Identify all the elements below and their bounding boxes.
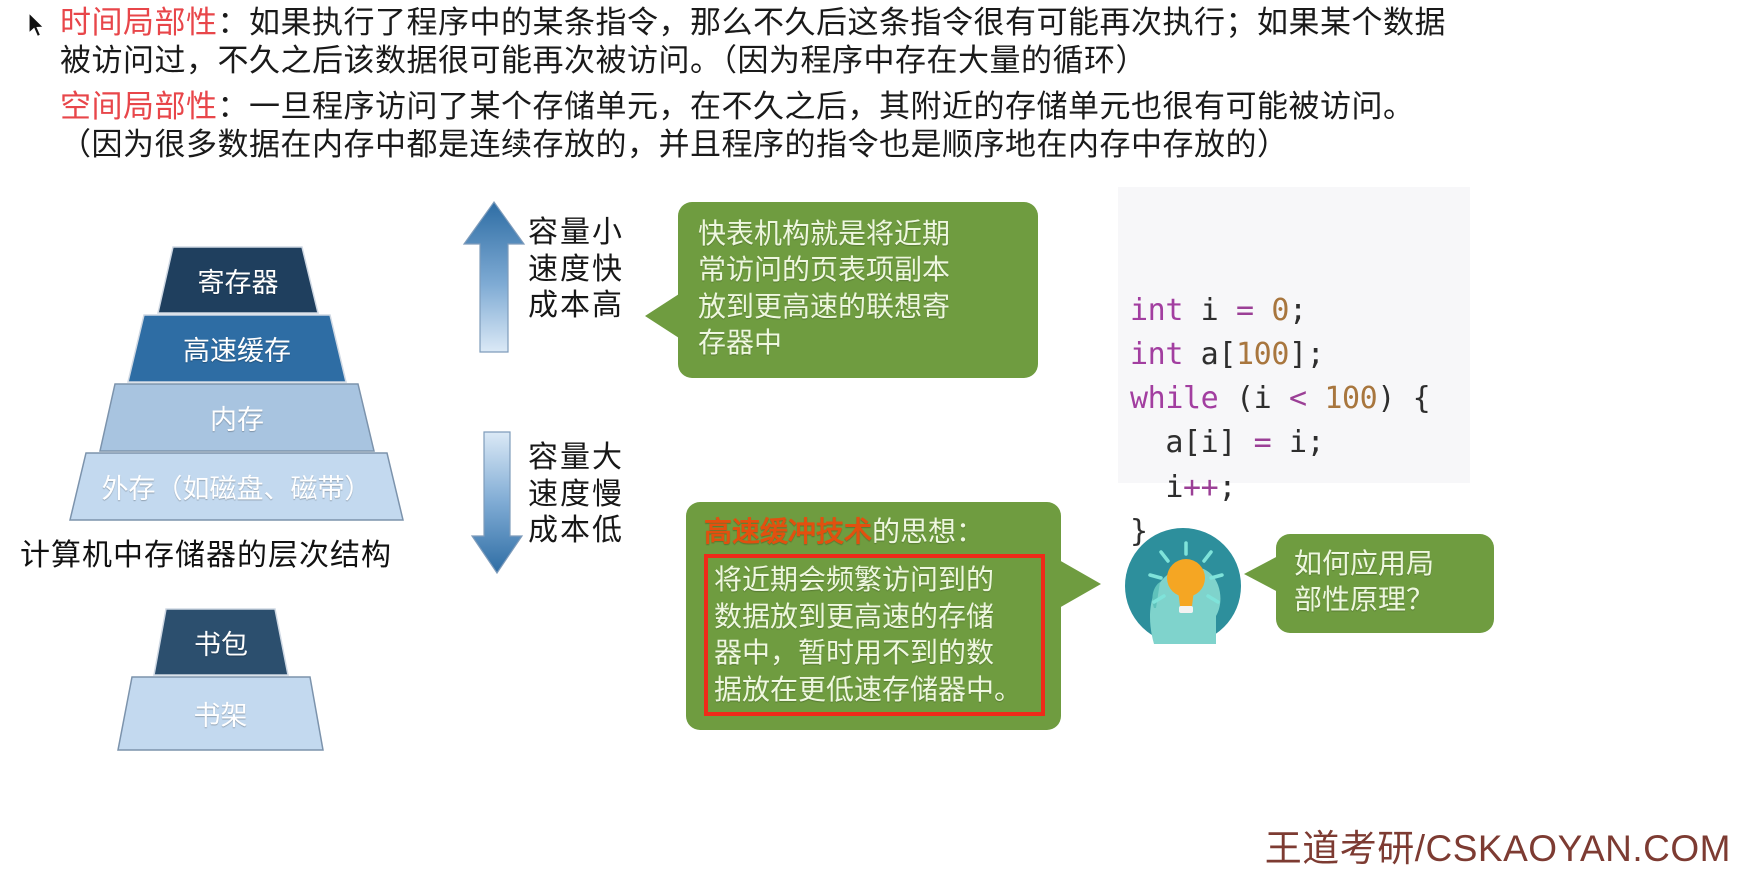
arrow-down-label-2: 速度慢 [528,477,624,514]
schoolbag-pyramid: 书包 书架 [70,607,370,767]
pyramid-level-cache: 高速缓存 [128,315,346,382]
code-line-1: int i = 0; [1130,289,1470,333]
code-token: i; [1271,425,1324,460]
code-token: int [1130,337,1183,372]
temporal-locality-line-1: 时间局部性：如果执行了程序中的某条指令，那么不久后这条指令很有可能再次执行；如果… [60,4,1740,42]
callout-fast-table-tail [645,294,679,338]
code-token: 100 [1236,337,1289,372]
code-token: i [1130,470,1183,505]
pyramid-level-external: 外存（如磁盘、磁带） [70,453,403,520]
schoolbag-level-bag: 书包 [154,609,288,675]
code-token: < [1289,381,1307,416]
code-token: a[ [1183,337,1236,372]
schoolbag-level-bag-label: 书包 [194,623,248,662]
callout-fast-table-line-4: 存器中 [698,325,1020,361]
arrow-up-label-2: 速度快 [528,252,624,289]
code-token: ++ [1183,470,1218,505]
arrow-down-labels: 容量大 速度慢 成本低 [528,440,624,550]
pyramid-level-memory-label: 内存 [210,398,264,437]
temporal-locality-body-1: 如果执行了程序中的某条指令，那么不久后这条指令很有可能再次执行；如果某个数据 [249,5,1446,41]
arrow-up-icon [462,200,526,355]
callout-cache-box-line-3: 器中，暂时用不到的数 [714,635,1039,671]
watermark: 王道考研/CSKAOYAN.COM [1265,818,1731,872]
pyramid-caption: 计算机中存储器的层次结构 [20,530,392,574]
spatial-locality-body-1: 一旦程序访问了某个存储单元，在不久之后，其附近的存储单元也很有可能被访问。 [249,89,1415,125]
code-token: 0 [1271,293,1289,328]
code-line-3: while (i < 100) { [1130,377,1470,421]
locality-explanation-text: 时间局部性：如果执行了程序中的某条指令，那么不久后这条指令很有可能再次执行；如果… [60,4,1740,165]
spatial-locality-keyword: 空间局部性 [60,89,218,125]
temporal-locality-keyword: 时间局部性 [60,5,218,41]
head-with-lightbulb-icon [1116,516,1250,644]
code-token: 100 [1324,381,1377,416]
pyramid-level-register-label: 寄存器 [198,261,279,300]
pyramid-level-external-label: 外存（如磁盘、磁带） [102,467,372,506]
code-token: i [1183,293,1236,328]
pyramid-level-cache-label: 高速缓存 [183,329,291,368]
code-token: while [1130,381,1218,416]
code-token: int [1130,293,1183,328]
callout-cache-box-line-2: 数据放到更高速的存储 [714,599,1039,635]
arrow-up-labels: 容量小 速度快 成本高 [528,215,624,325]
temporal-locality-line-2: 被访问过，不久之后该数据很可能再次被访问。（因为程序中存在大量的循环） [60,42,1740,80]
schoolbag-level-shelf: 书架 [118,677,323,750]
callout-how-to-apply: 如何应用局 部性原理？ [1276,534,1494,633]
code-token: ; [1218,470,1236,505]
code-token: = [1254,425,1272,460]
arrow-up-label-3: 成本高 [528,288,624,325]
callout-cache-box-line-4: 据放在更低速存储器中。 [714,672,1039,708]
code-line-2: int a[100]; [1130,333,1470,377]
callout-fast-table: 快表机构就是将近期 常访问的页表项副本 放到更高速的联想寄 存器中 [678,202,1038,378]
arrow-down-icon [470,430,524,575]
spatial-locality-colon: ： [218,89,250,125]
code-token [1307,381,1325,416]
callout-fast-table-line-3: 放到更高速的联想寄 [698,289,1020,325]
callout-cache-box-line-1: 将近期会频繁访问到的 [714,562,1039,598]
code-token: ]; [1289,337,1324,372]
code-sample-block: int i = 0;int a[100];while (i < 100) { a… [1118,187,1470,483]
spatial-locality-line-2: （因为很多数据在内存中都是连续存放的，并且程序的指令也是顺序地在内存中存放的） [60,126,1740,164]
code-token [1254,293,1272,328]
callout-how-to-apply-line-2: 部性原理？ [1294,582,1480,618]
callout-cache-highlight-box: 将近期会频繁访问到的 数据放到更高速的存储 器中，暂时用不到的数 据放在更低速存… [704,554,1045,716]
callout-cache-technique-tail [1059,560,1101,608]
schoolbag-level-shelf-label: 书架 [194,694,248,733]
arrow-down-label-3: 成本低 [528,513,624,550]
temporal-locality-colon: ： [218,5,250,41]
code-token: a[i] [1130,425,1254,460]
code-token: ; [1289,293,1307,328]
callout-fast-table-line-1: 快表机构就是将近期 [698,216,1020,252]
code-lines: int i = 0;int a[100];while (i < 100) { a… [1130,289,1470,554]
spatial-locality-line-1: 空间局部性：一旦程序访问了某个存储单元，在不久之后，其附近的存储单元也很有可能被… [60,88,1740,126]
pyramid-level-register: 寄存器 [158,247,318,313]
code-token: (i [1218,381,1289,416]
code-line-4: a[i] = i; [1130,421,1470,465]
callout-fast-table-line-2: 常访问的页表项副本 [698,252,1020,288]
callout-cache-title-highlight: 高速缓冲技术 [704,515,872,548]
arrow-up-label-1: 容量小 [528,215,624,252]
callout-how-to-apply-line-1: 如何应用局 [1294,546,1480,582]
callout-cache-title-rest: 的思想： [872,515,984,548]
code-token: = [1236,293,1254,328]
arrow-down-label-1: 容量大 [528,440,624,477]
callout-cache-technique: 高速缓冲技术的思想： 将近期会频繁访问到的 数据放到更高速的存储 器中，暂时用不… [686,502,1061,730]
code-line-5: i++; [1130,466,1470,510]
mouse-cursor-icon [28,12,46,38]
pyramid-level-memory: 内存 [100,384,374,451]
memory-hierarchy-pyramid: 寄存器 高速缓存 内存 外存（如磁盘、磁带） [40,245,440,535]
code-token: ) { [1377,381,1430,416]
callout-cache-title: 高速缓冲技术的思想： [704,514,1045,550]
